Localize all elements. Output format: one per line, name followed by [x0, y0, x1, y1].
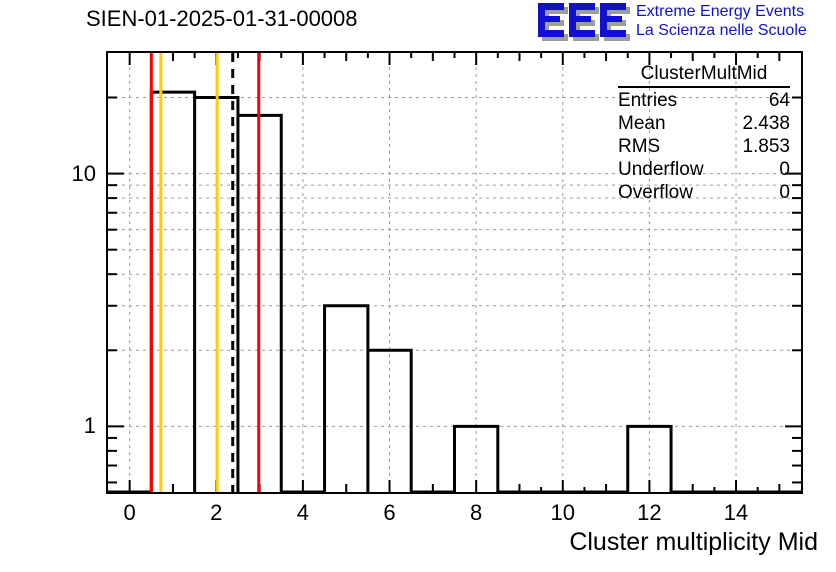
eee-logo-mark	[538, 3, 630, 39]
stats-row: Entries64	[618, 89, 790, 112]
stats-row: Mean2.438	[618, 112, 790, 135]
stats-row-value: 1.853	[742, 135, 790, 158]
stats-row-key: Overflow	[618, 181, 699, 204]
stats-row-value: 2.438	[742, 112, 790, 135]
stats-row-key: Underflow	[618, 158, 710, 181]
x-tick-label: 2	[186, 502, 246, 524]
stats-row-value: 64	[769, 89, 790, 112]
eee-logo-line2: La Scienza nelle Scuole	[636, 21, 807, 40]
y-tick-label: 1	[40, 415, 96, 437]
eee-logo: Extreme Energy Events La Scienza nelle S…	[538, 2, 834, 42]
stats-rows: Entries64Mean2.438RMS1.853Underflow0Over…	[618, 89, 790, 204]
eee-letter-1	[538, 3, 564, 37]
x-tick-label: 10	[533, 502, 593, 524]
stats-box: ClusterMultMid Entries64Mean2.438RMS1.85…	[618, 62, 790, 204]
stats-row: Overflow0	[618, 181, 790, 204]
stats-row: Underflow0	[618, 158, 790, 181]
x-tick-label: 14	[706, 502, 766, 524]
stats-row-key: RMS	[618, 135, 666, 158]
x-axis-title: Cluster multiplicity Mid	[569, 528, 818, 556]
stats-row: RMS1.853	[618, 135, 790, 158]
stats-row-key: Entries	[618, 89, 683, 112]
stats-title: ClusterMultMid	[618, 62, 790, 88]
x-tick-label: 4	[273, 502, 333, 524]
x-tick-label: 8	[446, 502, 506, 524]
y-tick-label: 10	[40, 163, 96, 185]
x-tick-label: 0	[100, 502, 160, 524]
page-title: SIEN-01-2025-01-31-00008	[86, 6, 358, 32]
eee-letter-2	[569, 3, 595, 37]
x-tick-label: 6	[360, 502, 420, 524]
eee-logo-text: Extreme Energy Events La Scienza nelle S…	[636, 2, 807, 40]
stats-row-key: Mean	[618, 112, 672, 135]
eee-letter-3	[600, 3, 626, 37]
stats-row-value: 0	[779, 181, 790, 204]
eee-logo-line1: Extreme Energy Events	[636, 2, 807, 21]
x-tick-label: 12	[619, 502, 679, 524]
stats-row-value: 0	[779, 158, 790, 181]
